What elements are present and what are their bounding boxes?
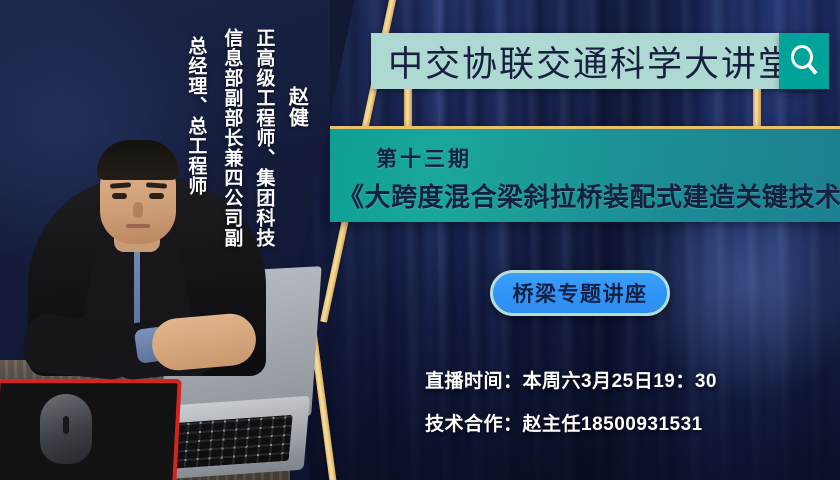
contact-text: 技术合作：赵主任18500931531 [425, 409, 703, 436]
gold-connector-left [404, 89, 412, 126]
speaker-title-line-2: 信息部副部长兼四公司副 [222, 28, 241, 268]
lecture-title: 《大跨度混合梁斜拉桥装配式建造关键技术》 [338, 177, 840, 214]
nose [133, 202, 143, 218]
search-button[interactable] [779, 33, 829, 89]
search-icon [789, 45, 819, 77]
speaker-portrait [0, 80, 290, 480]
program-title-text: 中交协联交通科学大讲堂 [371, 36, 795, 87]
topic-button[interactable]: 桥梁专题讲座 [490, 270, 670, 316]
eye-right [149, 193, 164, 199]
mouth [126, 224, 150, 228]
computer-mouse [40, 394, 92, 464]
speaker-title-line-3: 总经理、总工程师 [186, 36, 205, 218]
live-time-text: 直播时间：本周六3月25日19：30 [425, 366, 717, 393]
gold-connector-right [753, 89, 761, 126]
eye-left [112, 193, 127, 199]
program-title-banner: 中交协联交通科学大讲堂 [371, 33, 812, 89]
speaker-title-line-1: 正高级工程师、集团科技 [254, 28, 273, 268]
lecture-info-band: 第十三期 《大跨度混合梁斜拉桥装配式建造关键技术》 [330, 126, 840, 222]
speaker-name: 赵健 [286, 86, 306, 146]
livestream-poster: 总经理、总工程师 信息部副部长兼四公司副 正高级工程师、集团科技 赵健 中交协联… [0, 0, 840, 480]
episode-label: 第十三期 [376, 143, 472, 173]
hair [97, 140, 179, 180]
topic-button-label: 桥梁专题讲座 [513, 278, 648, 308]
